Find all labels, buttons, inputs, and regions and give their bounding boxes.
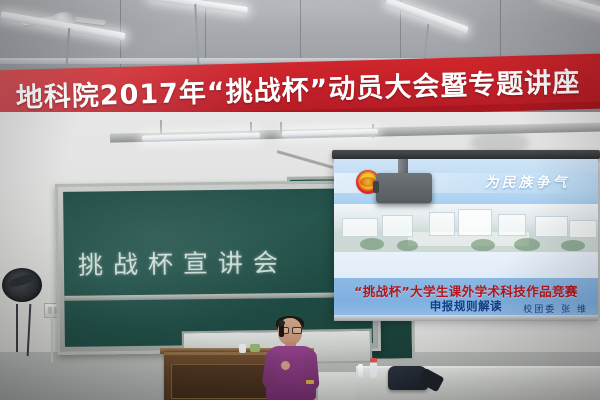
campus-building: [498, 214, 526, 236]
campus-building: [458, 209, 492, 236]
fan-power-cord: [16, 304, 18, 352]
campus-building: [569, 220, 597, 237]
speaker-sweater: [266, 346, 316, 400]
projection-screen-bottom-bar: [334, 315, 598, 321]
switch-toggle[interactable]: [48, 307, 52, 314]
blackboard-chalk-text: 挑战杯宣讲会: [78, 242, 358, 281]
speaker-right-arm: [302, 349, 319, 390]
desk-item-cup[interactable]: [239, 344, 246, 353]
speaker-hand: [281, 361, 290, 370]
wristwatch: [306, 380, 314, 384]
slide-divider-band: [334, 252, 598, 278]
blackboard-mid-rail: [64, 292, 372, 301]
projection-screen: 为民族争气 “挑战杯”大学生课外学术科技作品竞赛 申报规则解读 校团委 张 维: [334, 159, 598, 317]
microphone-head-icon: [278, 320, 285, 326]
water-bottle[interactable]: [370, 358, 377, 378]
campus-building: [429, 212, 455, 236]
campus-building: [382, 215, 413, 237]
speaker-person: [262, 318, 320, 400]
campus-building: [535, 216, 569, 236]
projection-screen-case: [332, 150, 600, 159]
projector-lens-icon: [373, 181, 379, 193]
campus-photo-strip: [334, 204, 598, 252]
small-bottle[interactable]: [358, 364, 363, 377]
wall-mounted-fan: [2, 268, 42, 306]
slide-author: 校团委 张 维: [523, 302, 588, 315]
lecture-hall-photo: 地科院2017年“挑战杯”动员大会暨专题讲座 挑战杯宣讲会: [0, 0, 600, 400]
slide-calligraphy-text: 为民族争气: [462, 172, 592, 192]
campus-building: [342, 218, 378, 236]
speaker-left-arm: [261, 349, 280, 389]
ceiling-projector: [376, 173, 432, 203]
wall-conduit: [51, 316, 53, 362]
blackboard-surface: 挑战杯宣讲会: [63, 188, 373, 347]
desk-item-box[interactable]: [250, 344, 260, 352]
